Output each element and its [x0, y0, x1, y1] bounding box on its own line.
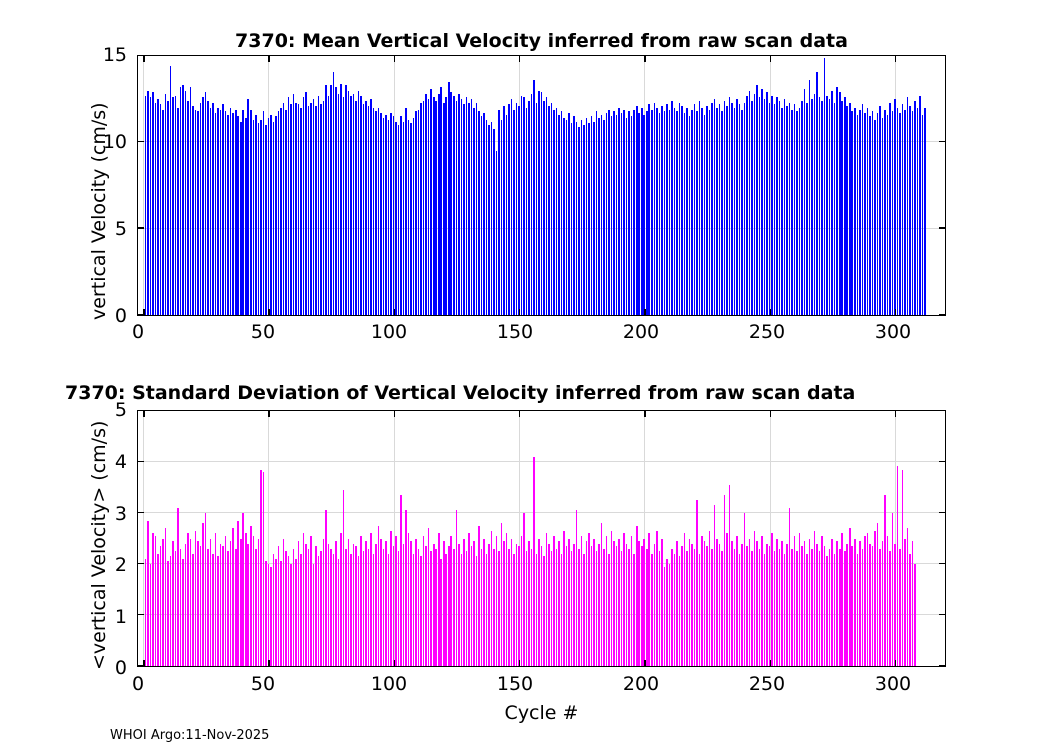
bar: [904, 110, 906, 315]
bar: [724, 495, 726, 666]
bar: [706, 546, 708, 666]
x-tick-mark: [143, 56, 145, 62]
y-tick-mark: [939, 461, 945, 463]
bar: [781, 541, 783, 666]
bar: [268, 564, 270, 666]
bar: [811, 549, 813, 666]
bar: [581, 536, 583, 666]
gridline-horizontal: [138, 461, 945, 462]
bar: [659, 551, 661, 666]
bar: [225, 111, 227, 315]
bar: [714, 99, 716, 315]
bar: [207, 101, 209, 315]
bar: [774, 551, 776, 666]
bar: [453, 96, 455, 315]
bar: [533, 457, 535, 666]
bar: [523, 513, 525, 666]
bar: [648, 104, 650, 315]
bar: [145, 559, 147, 666]
x-tick-mark: [268, 411, 270, 417]
bar: [811, 99, 813, 315]
bar: [907, 528, 909, 666]
bar: [440, 87, 442, 315]
bar: [263, 472, 265, 666]
bar: [867, 533, 869, 666]
bar: [729, 485, 731, 666]
bar: [633, 110, 635, 315]
bar: [716, 108, 718, 315]
bar: [909, 554, 911, 666]
bar: [826, 96, 828, 315]
bar: [170, 556, 172, 666]
bar: [771, 96, 773, 315]
x-tick-mark: [268, 56, 270, 62]
bar: [230, 541, 232, 666]
bar: [150, 564, 152, 666]
bar: [258, 123, 260, 315]
bar: [836, 87, 838, 315]
bar: [636, 106, 638, 315]
bar: [320, 551, 322, 666]
bar: [395, 536, 397, 666]
y-tick-label-mean-10: 10: [83, 131, 127, 153]
bar: [506, 533, 508, 666]
bar: [363, 104, 365, 315]
bar: [809, 539, 811, 667]
bar: [385, 541, 387, 666]
bar: [345, 85, 347, 315]
y-tick-mark: [138, 512, 144, 514]
plot-area-std: [137, 410, 946, 667]
x-tick-mark: [644, 411, 646, 417]
bar: [739, 104, 741, 315]
bar: [313, 99, 315, 315]
bar: [766, 544, 768, 666]
bar: [613, 541, 615, 666]
bar: [217, 108, 219, 315]
x-tick-mark: [895, 411, 897, 417]
x-tick-mark: [394, 660, 396, 666]
bar: [731, 103, 733, 315]
bar: [779, 101, 781, 315]
bar: [278, 111, 280, 315]
bar: [551, 551, 553, 666]
bar: [283, 103, 285, 315]
bar: [395, 122, 397, 315]
bar: [899, 549, 901, 666]
bar: [526, 108, 528, 315]
bar: [355, 546, 357, 666]
bar: [456, 510, 458, 666]
bar: [659, 113, 661, 315]
bar: [253, 536, 255, 666]
x-tick-mark: [519, 660, 521, 666]
bar: [393, 546, 395, 666]
bar: [598, 118, 600, 315]
bar: [924, 108, 926, 315]
bar: [288, 97, 290, 315]
bar: [904, 539, 906, 667]
bar: [255, 549, 257, 666]
y-tick-mark: [138, 461, 144, 463]
bar: [626, 118, 628, 315]
bar: [761, 536, 763, 666]
bar: [200, 546, 202, 666]
x-tick-mark: [770, 309, 772, 315]
y-tick-mark: [939, 314, 945, 316]
bar: [709, 531, 711, 666]
x-tick-mark: [644, 56, 646, 62]
bar: [578, 127, 580, 315]
bar: [884, 495, 886, 666]
bar: [902, 470, 904, 666]
bar: [561, 554, 563, 666]
bar: [290, 564, 292, 666]
bar: [829, 99, 831, 315]
x-tick-mark: [644, 309, 646, 315]
bar: [410, 541, 412, 666]
bar: [651, 110, 653, 315]
bar: [285, 551, 287, 666]
bar: [423, 536, 425, 666]
y-tick-mark: [939, 227, 945, 229]
bar: [418, 549, 420, 666]
bar: [270, 115, 272, 315]
bar: [303, 533, 305, 666]
bar: [538, 539, 540, 667]
bar: [315, 546, 317, 666]
bar: [744, 513, 746, 666]
bar: [165, 528, 167, 666]
bar: [410, 123, 412, 315]
bar: [887, 536, 889, 666]
plot-area-mean: [137, 55, 946, 316]
bar: [458, 94, 460, 315]
bar: [796, 111, 798, 315]
bar: [328, 544, 330, 666]
bar: [844, 551, 846, 666]
bar: [576, 510, 578, 666]
bar: [761, 89, 763, 315]
bar: [273, 122, 275, 315]
bar: [739, 554, 741, 666]
bar: [563, 118, 565, 315]
y-tick-mark: [138, 227, 144, 229]
x-tick-label-mean-300: 300: [863, 321, 923, 343]
bar: [488, 125, 490, 315]
bar: [841, 533, 843, 666]
bar: [676, 111, 678, 315]
bar: [175, 551, 177, 666]
bar: [513, 554, 515, 666]
bar: [726, 533, 728, 666]
bar: [791, 549, 793, 666]
y-tick-mark: [138, 614, 144, 616]
bar: [348, 91, 350, 315]
bar: [430, 551, 432, 666]
bar: [684, 533, 686, 666]
bar: [373, 108, 375, 315]
bar: [413, 554, 415, 666]
bar: [388, 554, 390, 666]
bar: [834, 554, 836, 666]
bar: [461, 554, 463, 666]
bar: [435, 549, 437, 666]
bar: [483, 539, 485, 667]
bar: [794, 536, 796, 666]
bar: [526, 551, 528, 666]
bar: [654, 103, 656, 315]
bar: [746, 546, 748, 666]
bar: [237, 521, 239, 666]
bar: [839, 92, 841, 315]
x-tick-mark: [519, 309, 521, 315]
bar: [759, 97, 761, 315]
bar: [889, 103, 891, 315]
bar: [180, 549, 182, 666]
bar: [691, 544, 693, 666]
bar: [689, 539, 691, 667]
bar: [450, 92, 452, 315]
bar: [608, 554, 610, 666]
bar: [679, 556, 681, 666]
bar: [819, 551, 821, 666]
bar: [859, 541, 861, 666]
bar: [172, 541, 174, 666]
bar: [290, 104, 292, 315]
bar: [664, 111, 666, 315]
bar: [486, 554, 488, 666]
bar: [202, 97, 204, 315]
bar: [591, 116, 593, 315]
bar: [501, 523, 503, 666]
bar: [611, 116, 613, 315]
bar: [350, 554, 352, 666]
bar: [516, 544, 518, 666]
bar: [182, 85, 184, 315]
bar: [631, 536, 633, 666]
bar: [536, 103, 538, 315]
bar: [320, 104, 322, 315]
bar: [195, 110, 197, 315]
bar: [854, 108, 856, 315]
bar: [553, 536, 555, 666]
bar: [533, 80, 535, 315]
bar: [242, 513, 244, 666]
x-tick-label-std-250: 250: [737, 673, 797, 695]
bar: [731, 541, 733, 666]
bar: [862, 104, 864, 315]
bar: [513, 110, 515, 315]
bar: [270, 567, 272, 666]
bar: [468, 103, 470, 315]
bar: [461, 99, 463, 315]
bar: [829, 549, 831, 666]
bar: [393, 116, 395, 315]
bar: [874, 531, 876, 666]
bar: [897, 108, 899, 315]
bar: [440, 559, 442, 666]
bar: [603, 549, 605, 666]
bar: [877, 523, 879, 666]
bar: [263, 111, 265, 315]
bar: [165, 94, 167, 315]
bar: [222, 104, 224, 315]
bar: [365, 541, 367, 666]
bar: [152, 533, 154, 666]
bar: [318, 556, 320, 666]
bar: [859, 110, 861, 315]
bar: [293, 94, 295, 315]
bar: [538, 91, 540, 315]
bar: [879, 549, 881, 666]
x-tick-label-std-0: 0: [118, 673, 158, 695]
bar: [621, 551, 623, 666]
bar: [420, 103, 422, 315]
bar: [716, 539, 718, 667]
bar: [360, 96, 362, 315]
bar: [543, 101, 545, 315]
bar: [656, 108, 658, 315]
bar: [212, 554, 214, 666]
bar: [438, 533, 440, 666]
bar: [358, 91, 360, 315]
bar: [471, 546, 473, 666]
bar: [232, 113, 234, 315]
bar: [486, 120, 488, 315]
bar: [846, 106, 848, 315]
bar: [403, 544, 405, 666]
bar: [801, 101, 803, 315]
bar: [333, 72, 335, 315]
bar: [664, 567, 666, 666]
bar: [503, 106, 505, 315]
y-tick-mark: [939, 665, 945, 667]
bar: [841, 101, 843, 315]
bar: [152, 92, 154, 315]
bar: [616, 546, 618, 666]
bar: [501, 120, 503, 315]
bar: [889, 551, 891, 666]
bar: [706, 106, 708, 315]
bar: [902, 104, 904, 315]
bar: [576, 122, 578, 315]
bar: [709, 110, 711, 315]
bar: [405, 510, 407, 666]
bar: [641, 546, 643, 666]
bar: [373, 554, 375, 666]
bar: [260, 120, 262, 315]
bar: [581, 120, 583, 315]
bar: [343, 490, 345, 666]
bar: [669, 110, 671, 315]
bar: [586, 118, 588, 315]
bar: [177, 508, 179, 666]
bar: [591, 546, 593, 666]
bar: [633, 554, 635, 666]
bar: [867, 108, 869, 315]
x-tick-mark: [519, 56, 521, 62]
bar: [674, 108, 676, 315]
x-tick-mark: [770, 660, 772, 666]
bar: [804, 541, 806, 666]
bar: [606, 536, 608, 666]
bar: [874, 120, 876, 315]
bar: [593, 539, 595, 667]
bar: [358, 556, 360, 666]
bar: [300, 108, 302, 315]
y-tick-label-std-2: 2: [95, 554, 127, 576]
bar: [684, 113, 686, 315]
bar: [571, 123, 573, 315]
bar: [543, 556, 545, 666]
bar: [628, 549, 630, 666]
bar: [187, 101, 189, 315]
bar: [310, 103, 312, 315]
bar: [250, 526, 252, 666]
bar: [197, 541, 199, 666]
bar: [819, 97, 821, 315]
bar: [816, 72, 818, 315]
bar: [636, 526, 638, 666]
bar: [912, 541, 914, 666]
bar: [468, 533, 470, 666]
bar: [741, 544, 743, 666]
bar: [378, 526, 380, 666]
bar: [651, 554, 653, 666]
x-tick-label-mean-50: 50: [239, 321, 287, 343]
bar: [796, 551, 798, 666]
bar: [463, 104, 465, 315]
bar: [167, 561, 169, 666]
bar: [831, 539, 833, 667]
bar: [528, 541, 530, 666]
bar: [719, 104, 721, 315]
bar: [450, 536, 452, 666]
bar: [681, 106, 683, 315]
bar: [481, 116, 483, 315]
bar: [190, 87, 192, 315]
bar: [601, 523, 603, 666]
bar: [781, 108, 783, 315]
x-tick-label-std-100: 100: [359, 673, 419, 695]
bar: [323, 101, 325, 315]
bar: [303, 97, 305, 315]
bar: [641, 108, 643, 315]
bar: [719, 544, 721, 666]
bar: [711, 549, 713, 666]
bar: [914, 101, 916, 315]
chart-title-mean: 7370: Mean Vertical Velocity inferred fr…: [137, 30, 946, 52]
bar: [877, 113, 879, 315]
bar: [511, 99, 513, 315]
x-tick-mark: [519, 411, 521, 417]
y-tick-label-std-4: 4: [95, 451, 127, 473]
bar: [338, 94, 340, 315]
bar: [220, 544, 222, 666]
footer-credit: WHOI Argo:11-Nov-2025: [110, 728, 269, 743]
bar: [473, 108, 475, 315]
x-tick-mark: [895, 309, 897, 315]
bar: [400, 495, 402, 666]
bar: [846, 544, 848, 666]
bar: [518, 106, 520, 315]
bar: [726, 106, 728, 315]
x-tick-label-std-50: 50: [239, 673, 287, 695]
bar: [250, 110, 252, 315]
bar: [333, 554, 335, 666]
y-tick-mark: [939, 563, 945, 565]
